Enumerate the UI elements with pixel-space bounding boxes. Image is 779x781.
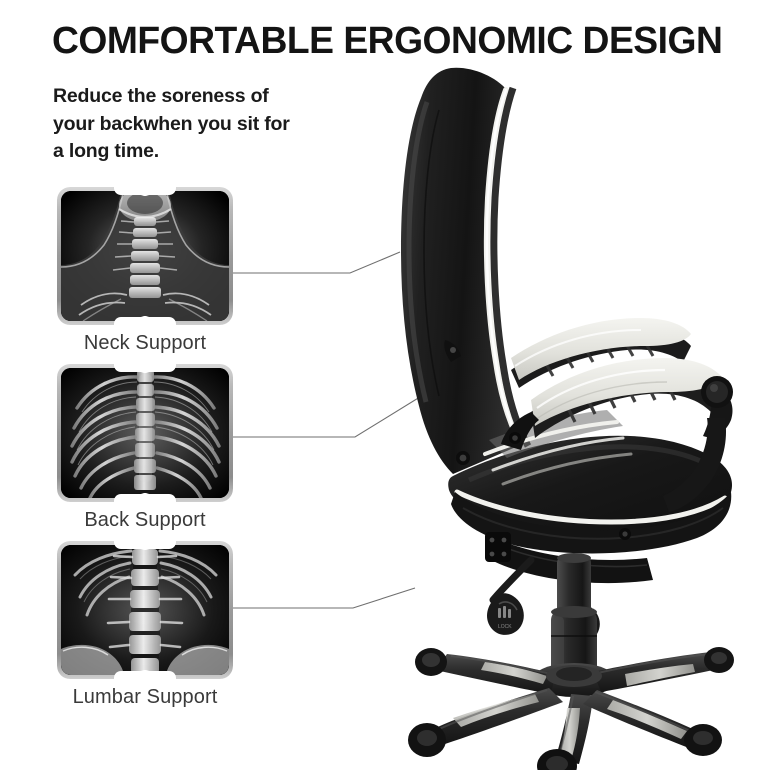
- xray-image-neck: [61, 191, 229, 321]
- feature-card-lumbar[interactable]: Lumbar Support: [57, 541, 233, 709]
- caster: [415, 648, 447, 676]
- feature-card-neck[interactable]: Neck Support: [57, 187, 233, 355]
- chair-base: [431, 652, 723, 764]
- chair-backrest: [401, 68, 528, 474]
- subtitle-line-2: your backwhen you sit for: [53, 111, 343, 139]
- frame-notch-bottom: [114, 317, 176, 326]
- frame-notch-top: [114, 363, 176, 372]
- subtitle: Reduce the soreness of your backwhen you…: [53, 83, 343, 166]
- feature-caption-neck: Neck Support: [57, 332, 233, 355]
- subtitle-line-3: a long time.: [53, 138, 343, 166]
- xray-image-back: [61, 368, 229, 498]
- chair-gas-cylinder: [551, 553, 597, 680]
- frame-notch-bottom: [114, 494, 176, 503]
- frame-notch-top: [114, 186, 176, 195]
- feature-frame-back: [57, 364, 233, 502]
- infographic-canvas: COMFORTABLE ERGONOMIC DESIGN Reduce the …: [0, 0, 779, 781]
- caster: [704, 647, 734, 673]
- frame-notch-top: [114, 540, 176, 549]
- tilt-lever[interactable]: LOCK: [487, 560, 531, 635]
- svg-text:LOCK: LOCK: [498, 624, 512, 630]
- feature-frame-lumbar: [57, 541, 233, 679]
- feature-card-back[interactable]: Back Support: [57, 364, 233, 532]
- caster: [684, 724, 722, 756]
- frame-notch-bottom: [114, 671, 176, 680]
- subtitle-line-1: Reduce the soreness of: [53, 83, 343, 111]
- product-image-office-chair: LOCK: [335, 40, 755, 770]
- xray-image-lumbar: [61, 545, 229, 675]
- feature-frame-neck: [57, 187, 233, 325]
- feature-caption-lumbar: Lumbar Support: [57, 686, 233, 709]
- feature-caption-back: Back Support: [57, 509, 233, 532]
- caster: [408, 723, 446, 757]
